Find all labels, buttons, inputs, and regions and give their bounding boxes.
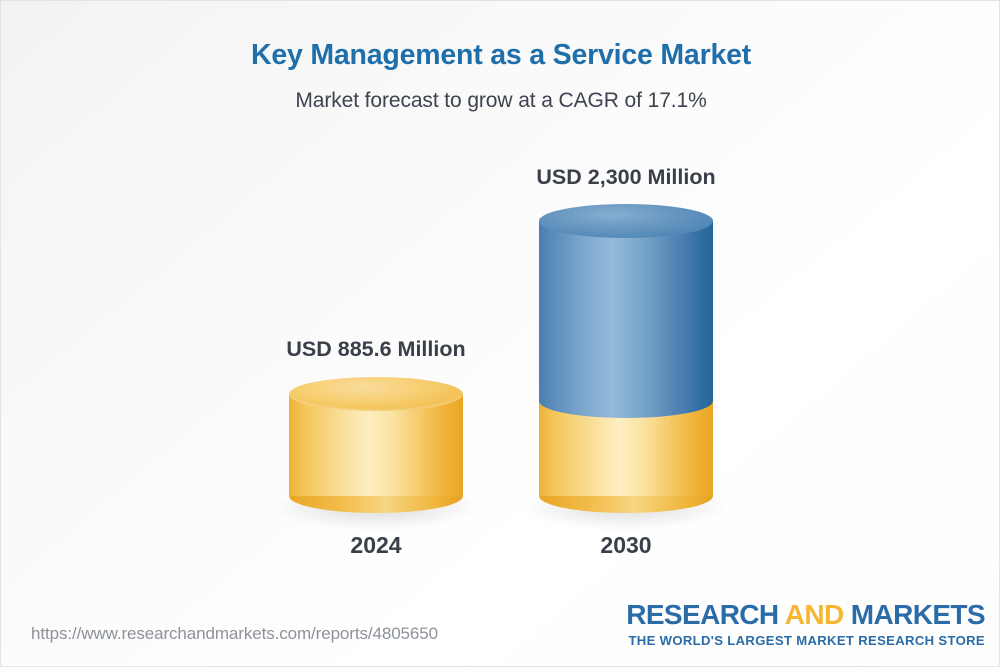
logo-wordmark: RESEARCH AND MARKETS [626, 601, 985, 630]
bar-value-label-2030: USD 2,300 Million [436, 165, 816, 190]
category-label-2030: 2030 [436, 532, 816, 559]
logo-word-and: AND [785, 599, 844, 630]
logo-tagline: THE WORLD'S LARGEST MARKET RESEARCH STOR… [626, 633, 985, 648]
bar-value-label-2024: USD 885.6 Million [186, 337, 566, 362]
bar-top-cap-2024 [289, 377, 463, 411]
page-title: Key Management as a Service Market [1, 39, 1000, 72]
bar-segment-bottom-cap-2030 [539, 384, 713, 418]
bar-cylinder-2024 [289, 377, 463, 513]
page-subtitle: Market forecast to grow at a CAGR of 17.… [1, 89, 1000, 113]
logo-word-markets: MARKETS [844, 599, 985, 630]
logo-word-research: RESEARCH [626, 599, 784, 630]
bar-body-2030 [539, 221, 713, 401]
brand-logo[interactable]: RESEARCH AND MARKETS THE WORLD'S LARGEST… [626, 601, 985, 648]
infographic-canvas: Key Management as a Service Market Marke… [0, 0, 1000, 667]
bar-top-cap-2030 [539, 204, 713, 238]
source-url[interactable]: https://www.researchandmarkets.com/repor… [31, 624, 438, 644]
